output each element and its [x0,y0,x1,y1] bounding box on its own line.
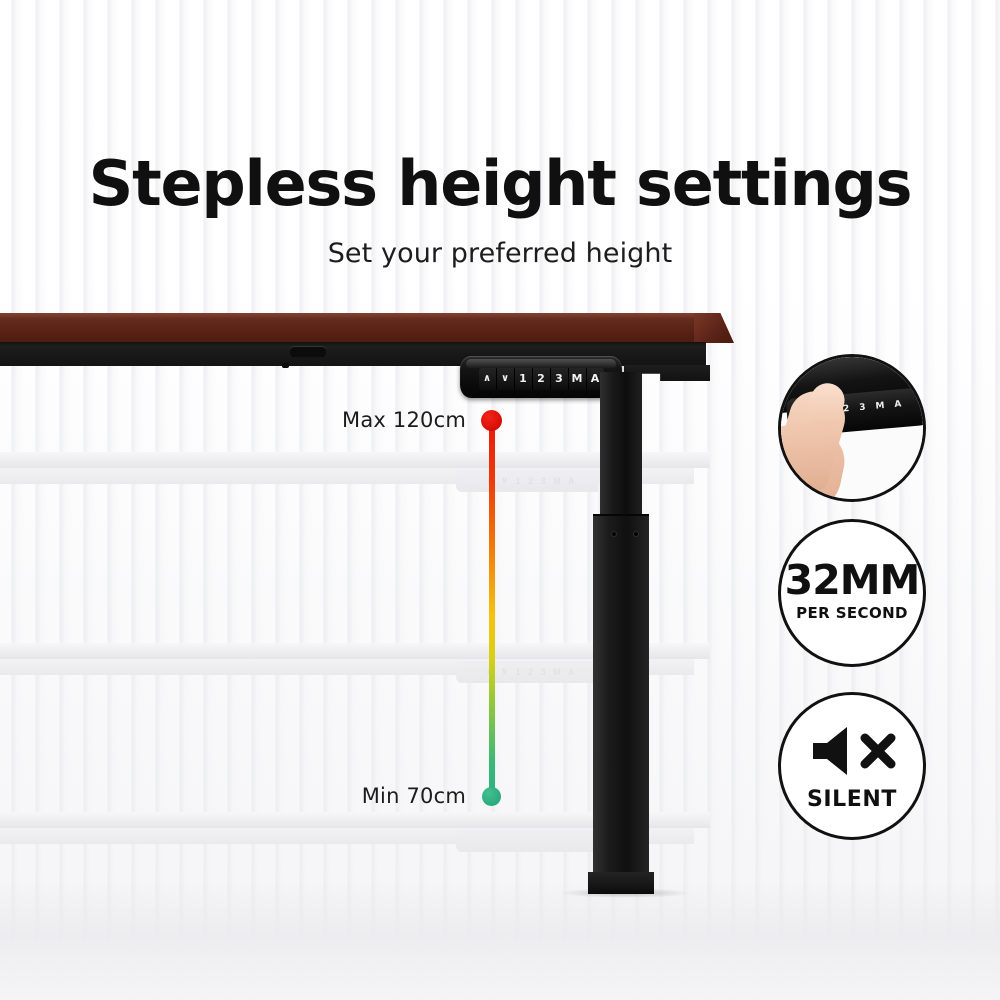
height-range-gradient-bar [489,418,495,800]
product-feature-image: Stepless height settings Set your prefer… [0,0,1000,1000]
desk-leg-upper-section [600,372,642,520]
silent-label: SILENT [781,787,923,812]
keypad-key-row: ∧ ∨ 1 2 3 M A [479,368,604,390]
desk-frame-shadow [0,342,706,347]
badge-key: 3 [859,403,866,414]
desktop-sheen [0,313,720,319]
badge-key: M [875,401,885,412]
speed-value: 32MM [781,556,923,604]
speed-unit: PER SECOND [781,604,923,622]
page-title: Stepless height settings [0,152,1000,215]
keypad-gloss [466,359,616,369]
frame-bolt [282,363,289,368]
badge-key: A [894,399,902,410]
max-height-label: Max 120cm [206,408,466,432]
keypad-preset-2-button[interactable]: 2 [533,368,551,390]
keypad-preset-1-button[interactable]: 1 [515,368,533,390]
speaker-mute-icon [807,723,899,779]
leg-screw [611,531,617,537]
min-height-marker-dot [482,787,501,806]
keypad-preset-3-button[interactable]: 3 [551,368,569,390]
leg-screw [633,531,639,537]
standing-desk [0,313,736,373]
keypad-memory-button[interactable]: M [569,368,587,390]
desk-foot-shadow [560,888,690,898]
max-height-marker-dot [481,410,502,431]
desktop-right-edge [694,313,734,343]
min-height-label: Min 70cm [206,784,466,808]
badge-speed: 32MM PER SECOND [778,519,926,667]
badge-silent: SILENT [778,692,926,840]
keypad-down-button[interactable]: ∨ [497,368,515,390]
background-floor [0,880,1000,1000]
keypad-up-button[interactable]: ∧ [479,368,497,390]
page-subtitle: Set your preferred height [0,238,1000,269]
desk-control-keypad[interactable]: ∧ ∨ 1 2 3 M A [460,356,622,398]
desk-leg-lower-section [593,516,649,888]
badge-touch-control-photo: 2 3 M A [778,354,926,502]
frame-cable-slot [290,346,326,357]
